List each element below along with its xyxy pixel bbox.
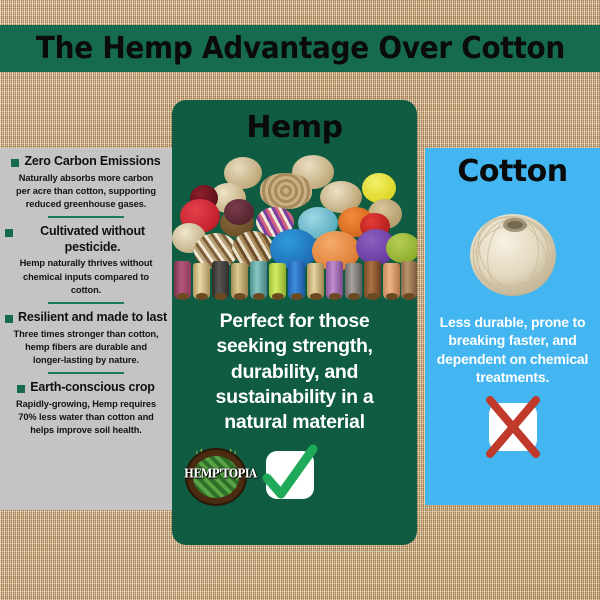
page-title: The Hemp Advantage Over Cotton (35, 31, 564, 66)
cotton-footer-icons (425, 403, 600, 451)
feature-item: Zero Carbon Emissions Naturally absorbs … (5, 154, 167, 211)
hemp-panel: Hemp (172, 100, 417, 545)
square-bullet-icon (5, 229, 13, 237)
feature-item: Cultivated without pesticide. Hemp natur… (5, 224, 167, 297)
feature-title: Resilient and made to last (18, 310, 167, 326)
hemp-description: Perfect for those seeking strength, dura… (188, 309, 401, 436)
feature-body: Hemp naturally thrives without chemical … (11, 257, 161, 297)
benefits-sidebar: Zero Carbon Emissions Naturally absorbs … (0, 148, 172, 510)
feature-body: Naturally absorbs more carbon per acre t… (11, 172, 161, 212)
hemp-footer-icons: HEMP'TOPIA (172, 444, 417, 506)
square-bullet-icon (11, 159, 19, 167)
check-icon (266, 451, 314, 499)
feature-title: Zero Carbon Emissions (24, 154, 160, 170)
title-banner: The Hemp Advantage Over Cotton (0, 25, 600, 72)
feature-heading: Zero Carbon Emissions (5, 154, 167, 170)
logo-wordmark: HEMP'TOPIA (184, 467, 250, 481)
cotton-panel-title: Cotton (425, 154, 600, 189)
feature-heading: Resilient and made to last (5, 310, 167, 326)
feature-item: Earth-conscious crop Rapidly-growing, He… (5, 380, 167, 437)
hemp-yarn-image (172, 151, 417, 303)
feature-heading: Earth-conscious crop (5, 380, 167, 396)
section-divider (48, 372, 124, 374)
cotton-panel: Cotton Less durable, prone (425, 148, 600, 505)
feature-body: Rapidly-growing, Hemp requires 70% less … (11, 398, 161, 438)
feature-body: Three times stronger than cotton, hemp f… (11, 328, 161, 368)
feature-heading: Cultivated without pesticide. (5, 224, 167, 255)
cotton-description: Less durable, prone to breaking faster, … (433, 313, 592, 387)
hemp-panel-title: Hemp (172, 110, 417, 145)
cross-icon (489, 403, 537, 451)
feature-title: Earth-conscious crop (30, 380, 155, 396)
feature-title: Cultivated without pesticide. (18, 224, 167, 255)
square-bullet-icon (17, 385, 25, 393)
section-divider (48, 302, 124, 304)
feature-item: Resilient and made to last Three times s… (5, 310, 167, 367)
section-divider (48, 216, 124, 218)
cotton-yarn-image (463, 207, 563, 299)
square-bullet-icon (5, 315, 13, 323)
hemptopia-logo: HEMP'TOPIA (184, 444, 250, 506)
